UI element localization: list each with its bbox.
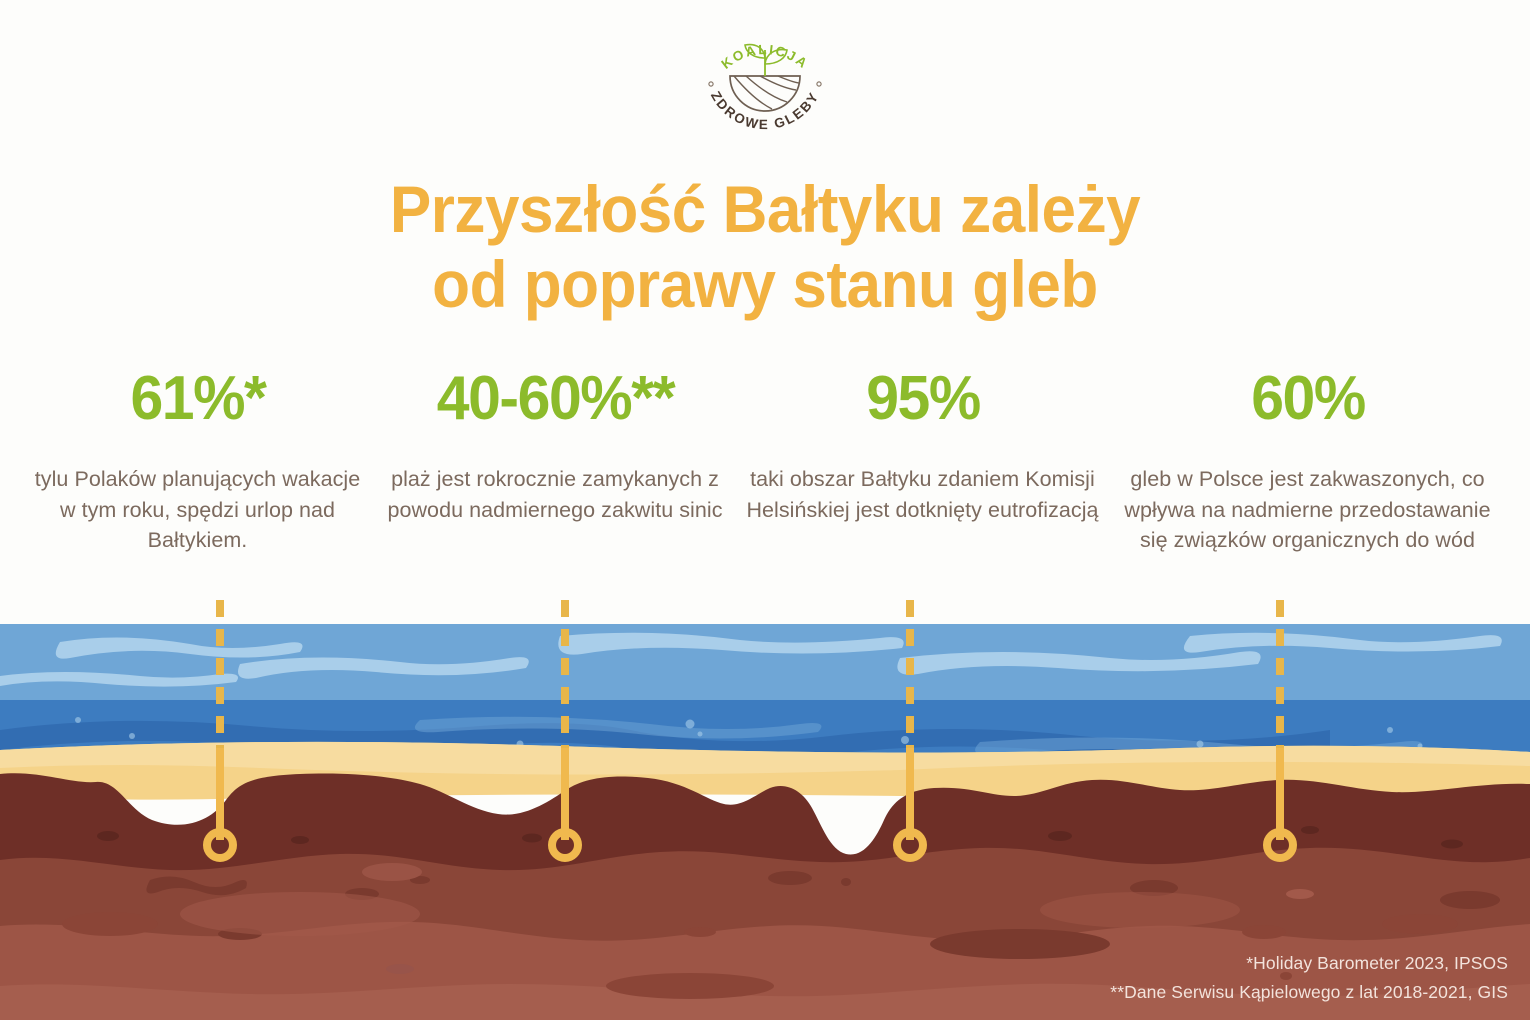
stat-card-3: 95% taki obszar Bałtyku zdaniem Komisji … [738, 368, 1108, 525]
stat-value-4: 60% [1123, 368, 1492, 430]
stat-description-3: taki obszar Bałtyku zdaniem Komisji Hels… [744, 464, 1102, 525]
page-title: Przyszłość Bałtyku zależy od poprawy sta… [46, 172, 1484, 322]
stat-description-4: gleb w Polsce jest zakwaszonych, co wpły… [1114, 464, 1502, 556]
stat-value-1: 61%* [37, 368, 358, 430]
stat-value-2: 40-60%** [387, 368, 722, 430]
page-title-line-1: Przyszłość Bałtyku zależy [46, 172, 1484, 247]
brand-logo: KOALICJA ZDROWE GLEBY [0, 14, 1530, 144]
stat-card-2: 40-60%** plaż jest rokrocznie zamykanych… [373, 368, 738, 525]
sprout-in-soil-bowl-icon: KOALICJA ZDROWE GLEBY [690, 14, 840, 142]
page-title-line-2: od poprawy stanu gleb [46, 247, 1484, 322]
footnote-1: *Holiday Barometer 2023, IPSOS [1110, 949, 1508, 977]
bowl-line-3 [760, 76, 796, 90]
statistics-row: 61%* tylu Polaków planujących wakacje w … [0, 368, 1530, 608]
stat-card-1: 61%* tylu Polaków planujących wakacje w … [23, 368, 373, 556]
infographic-root: KOALICJA ZDROWE GLEBY Przyszłość Bałtyku… [0, 0, 1530, 1020]
stat-value-3: 95% [752, 368, 1092, 430]
stat-card-4: 60% gleb w Polsce jest zakwaszonych, co … [1108, 368, 1508, 556]
stat-description-2: plaż jest rokrocznie zamykanych z powodu… [379, 464, 732, 525]
decor-dot-left [709, 82, 713, 86]
decor-dot-right [817, 82, 821, 86]
bowl-line-4 [778, 76, 799, 83]
stat-description-1: tylu Polaków planujących wakacje w tym r… [29, 464, 367, 556]
footnotes: *Holiday Barometer 2023, IPSOS **Dane Se… [1110, 949, 1508, 1006]
footnote-2: **Dane Serwisu Kąpielowego z lat 2018-20… [1110, 978, 1508, 1006]
